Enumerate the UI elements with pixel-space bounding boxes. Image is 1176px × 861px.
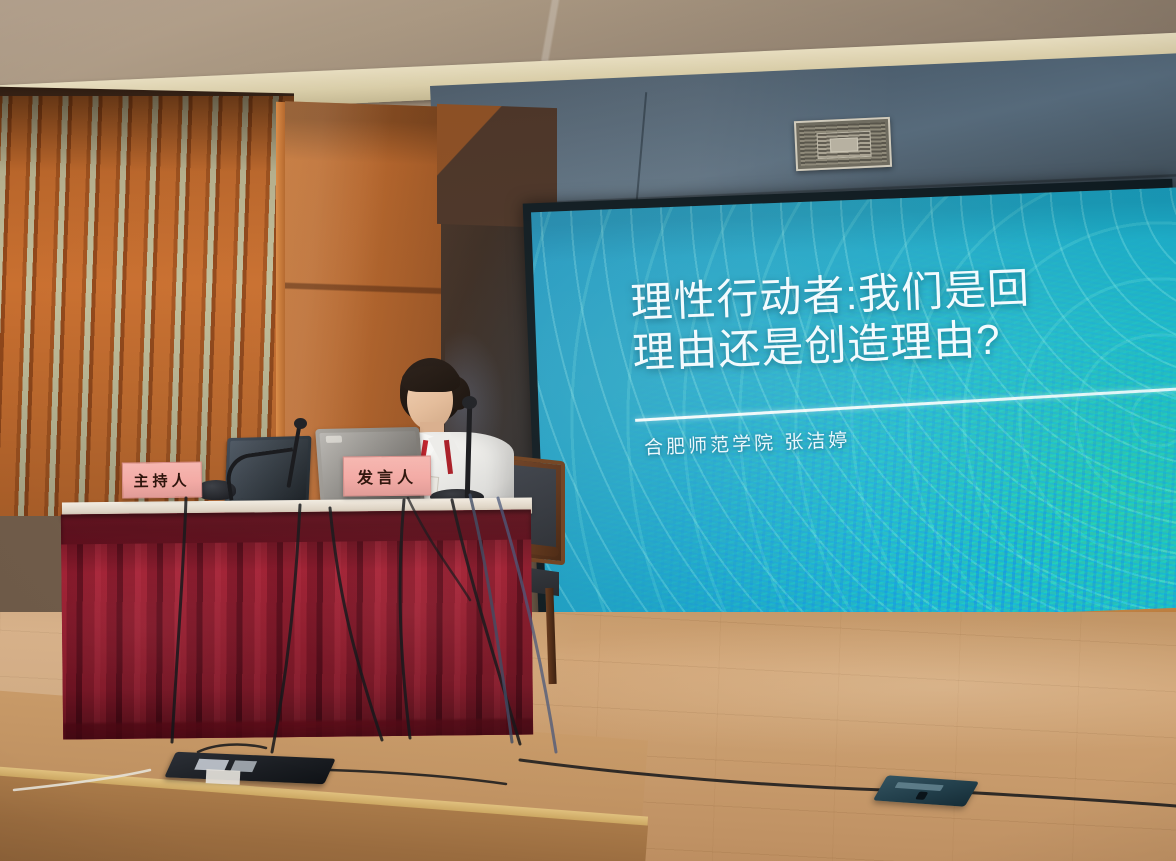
- name-placard-speaker: 发言人: [343, 455, 431, 496]
- microphone-icon: [462, 396, 477, 409]
- conference-room-photo: 理性行动者:我们是回 理由还是创造理由? 合肥师范学院 张洁婷: [0, 0, 1176, 861]
- chair-leg: [545, 588, 556, 684]
- laptop-logo: [326, 436, 343, 443]
- table-skirt-shading: [61, 510, 533, 740]
- microphone-icon: [294, 418, 307, 429]
- led-screen[interactable]: 理性行动者:我们是回 理由还是创造理由? 合肥师范学院 张洁婷: [531, 188, 1176, 641]
- floor-box-socket: [915, 792, 928, 800]
- speaker-hair-front: [402, 366, 460, 392]
- led-screen-frame: 理性行动者:我们是回 理由还是创造理由? 合肥师范学院 张洁婷: [523, 179, 1176, 649]
- air-vent-center: [830, 137, 858, 153]
- table-skirt: [61, 510, 533, 740]
- floor-box-slot: [895, 782, 944, 791]
- screen-vignette: [531, 188, 1176, 641]
- name-placard-moderator: 主持人: [122, 461, 202, 498]
- air-vent-icon: [794, 117, 892, 171]
- floor-tape-marker: [206, 769, 241, 785]
